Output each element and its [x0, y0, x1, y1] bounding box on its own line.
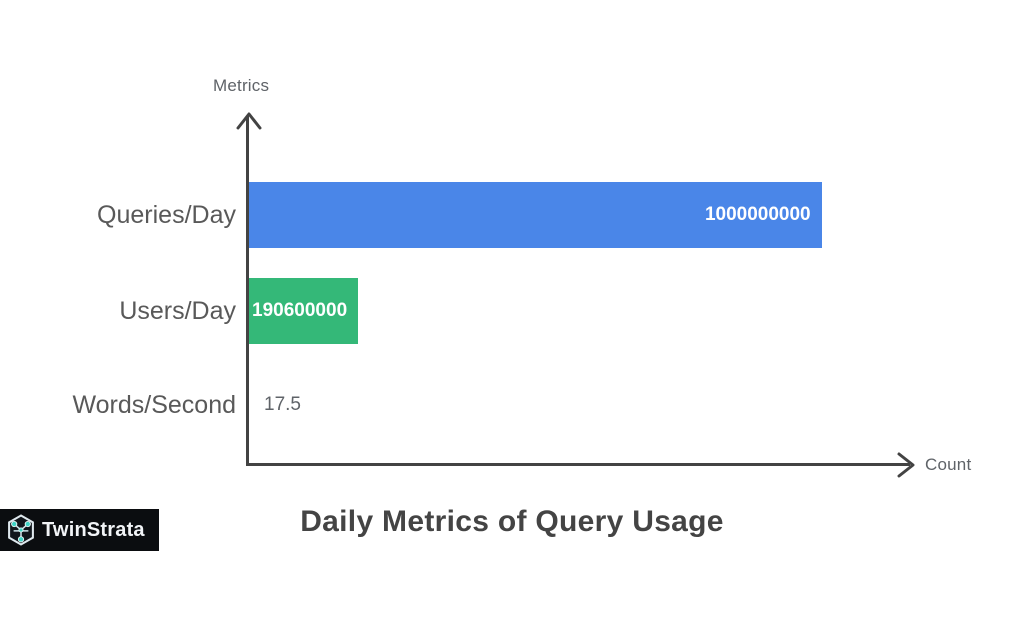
bar-queries-per-day[interactable]: 1000000000: [249, 182, 822, 248]
bar-row: Words/Second 17.5: [0, 372, 1024, 438]
bar-value-label: 17.5: [249, 394, 301, 416]
category-label-users-per-day: Users/Day: [119, 278, 236, 344]
x-axis-title: Count: [925, 455, 971, 475]
bar-value-label: 190600000: [252, 300, 358, 322]
bar-row: Users/Day 190600000: [0, 278, 1024, 344]
category-label-words-per-second: Words/Second: [72, 372, 236, 438]
y-axis-title: Metrics: [213, 76, 269, 96]
chart-canvas: Metrics Count Queries/Day 1000000000 Use…: [0, 0, 1024, 620]
y-axis-arrow-icon: [234, 108, 264, 134]
bar-value-label: 1000000000: [705, 204, 822, 226]
bar-row: Queries/Day 1000000000: [0, 182, 1024, 248]
hexagon-network-icon: [4, 513, 38, 547]
x-axis-arrow-icon: [893, 451, 923, 479]
category-label-queries-per-day: Queries/Day: [97, 182, 236, 248]
x-axis-line: [246, 463, 910, 466]
logo-text: TwinStrata: [42, 519, 145, 542]
twinstrata-logo: TwinStrata: [0, 509, 159, 551]
bar-users-per-day[interactable]: 190600000: [249, 278, 358, 344]
